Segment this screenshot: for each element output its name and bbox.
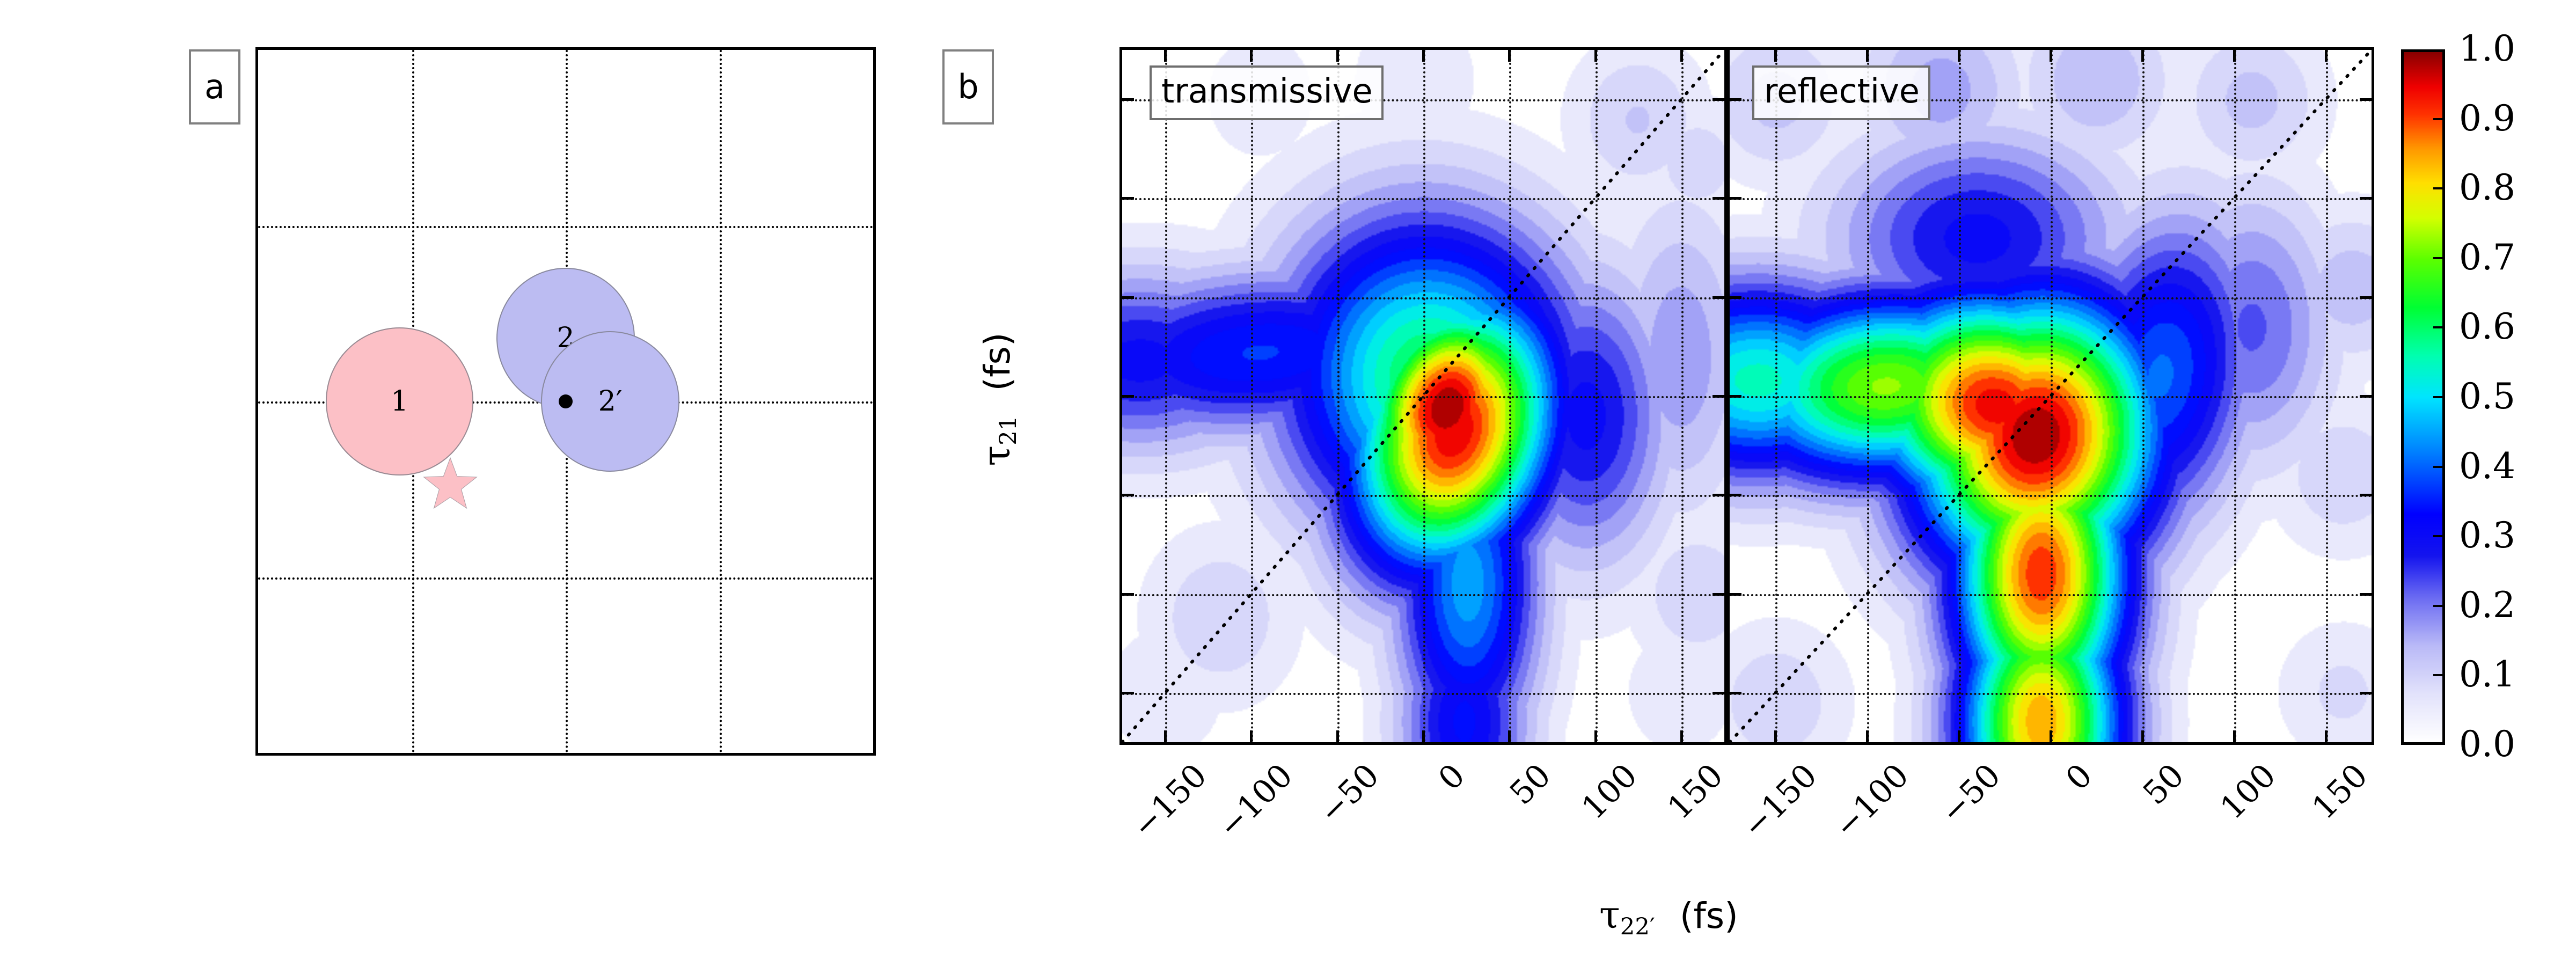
x-axis-tick-top: [2233, 50, 2236, 62]
colorbar-tick-label: 1.0: [2459, 28, 2515, 69]
x-axis-tick: [1958, 730, 1960, 742]
colorbar-tick: [2433, 326, 2443, 328]
y-axis-tick-left: [1122, 98, 1134, 101]
x-axis-tick: [2141, 730, 2144, 742]
y-axis-tick-right: [2360, 197, 2372, 200]
map-transmissive-title-text: transmissive: [1161, 75, 1373, 108]
y-axis-tick-left: [1122, 692, 1134, 694]
x-axis-tick: [1250, 730, 1253, 742]
colorbar-tick-label: 0.2: [2459, 584, 2515, 626]
y-axis-tick-right: [2360, 692, 2372, 694]
y-axis-tick-left: [1730, 593, 1741, 596]
y-axis-tick-left: [1122, 395, 1134, 398]
colorbar-tick-label: 0.4: [2459, 445, 2515, 487]
colorbar-tick-label: 0.0: [2459, 723, 2515, 765]
pulse-1-label: 1: [391, 385, 408, 418]
colorbar-tick: [2433, 187, 2443, 189]
colorbar-tick: [2433, 466, 2443, 468]
x-axis-tick-top: [1774, 50, 1777, 62]
x-axis-tick-top: [2050, 50, 2052, 62]
x-axis-tick-top: [1250, 50, 1253, 62]
y-axis-tick-right: [1713, 494, 1724, 496]
x-axis-tick-top: [1594, 50, 1597, 62]
y-axis-tick-left: [1730, 494, 1741, 496]
map-reflective-title-text: reflective: [1764, 75, 1920, 108]
y-axis-tick-left: [1122, 494, 1134, 496]
y-axis-tick-right: [1713, 692, 1724, 694]
colorbar-tick-label: 0.1: [2459, 654, 2515, 695]
x-axis-tick-top: [1336, 50, 1339, 62]
colorbar-tick: [2433, 257, 2443, 259]
x-axis-tick: [1866, 730, 1869, 742]
colorbar-tick-label: 0.9: [2459, 98, 2515, 139]
map-reflective-plot-area: [1730, 50, 2372, 742]
x-axis-tick: [2050, 730, 2052, 742]
colorbar-tick-label: 0.6: [2459, 306, 2515, 347]
y-axis-tick-left: [1730, 395, 1741, 398]
colorbar-tick: [2433, 535, 2443, 537]
y-axis-tick-left: [1730, 692, 1741, 694]
y-axis-tick-right: [2360, 494, 2372, 496]
x-axis-tick: [1774, 730, 1777, 742]
y-axis-tick-left: [1730, 197, 1741, 200]
y-axis-tick-right: [1713, 197, 1724, 200]
y-axis-tick-right: [2360, 593, 2372, 596]
x-axis-tick-top: [1422, 50, 1425, 62]
x-axis-tick-top: [2141, 50, 2144, 62]
x-axis-tick: [1508, 730, 1511, 742]
colorbar-tick-label: 0.5: [2459, 376, 2515, 417]
colorbar-tick: [2433, 605, 2443, 607]
colorbar-tick-label: 0.8: [2459, 167, 2515, 208]
map-transmissive-title-box: transmissive: [1150, 65, 1384, 120]
x-axis-tick: [1336, 730, 1339, 742]
map0-heatmap: [1122, 50, 1724, 742]
x-axis-tick-top: [1958, 50, 1960, 62]
y-axis-tick-right: [1713, 395, 1724, 398]
colorbar-tick: [2433, 674, 2443, 676]
x-axis-tick: [1680, 730, 1683, 742]
y-axis-tick-left: [1730, 98, 1741, 101]
x-axis-tick: [2325, 730, 2328, 742]
y-axis-tick-left: [1122, 296, 1134, 299]
x-axis-tick: [1422, 730, 1425, 742]
colorbar-tick-label: 0.3: [2459, 515, 2515, 556]
y-axis-tick-right: [1713, 98, 1724, 101]
y-axis-tick-right: [2360, 98, 2372, 101]
colorbar-tick-label: 0.7: [2459, 237, 2515, 278]
x-axis-tick-top: [2325, 50, 2328, 62]
x-axis-tick-top: [1866, 50, 1869, 62]
pulse-1: 1: [326, 327, 473, 475]
y-axis-tick-left: [1730, 296, 1741, 299]
map-reflective-title-box: reflective: [1752, 65, 1930, 120]
y-axis-tick-right: [2360, 296, 2372, 299]
panel-a-origin-dot: [559, 394, 573, 408]
x-axis-tick-top: [1680, 50, 1683, 62]
colorbar-tick: [2433, 118, 2443, 120]
x-axis-tick-top: [1508, 50, 1511, 62]
y-axis-tick-left: [1122, 593, 1134, 596]
x-axis-tick: [1594, 730, 1597, 742]
pulse-2prime-label: 2′: [598, 385, 623, 418]
y-axis-tick-right: [2360, 395, 2372, 398]
y-axis-tick-left: [1122, 197, 1134, 200]
x-axis-tick-top: [1164, 50, 1167, 62]
x-axis-tick: [1164, 730, 1167, 742]
map1-heatmap: [1730, 50, 2372, 742]
map-transmissive-plot-area: [1122, 50, 1724, 742]
y-axis-tick-right: [1713, 296, 1724, 299]
y-axis-tick-right: [1713, 593, 1724, 596]
figure-root: a 122′ b transmissive reflective −150−10…: [0, 0, 2576, 966]
colorbar-tick: [2433, 396, 2443, 398]
x-axis-tick: [2233, 730, 2236, 742]
